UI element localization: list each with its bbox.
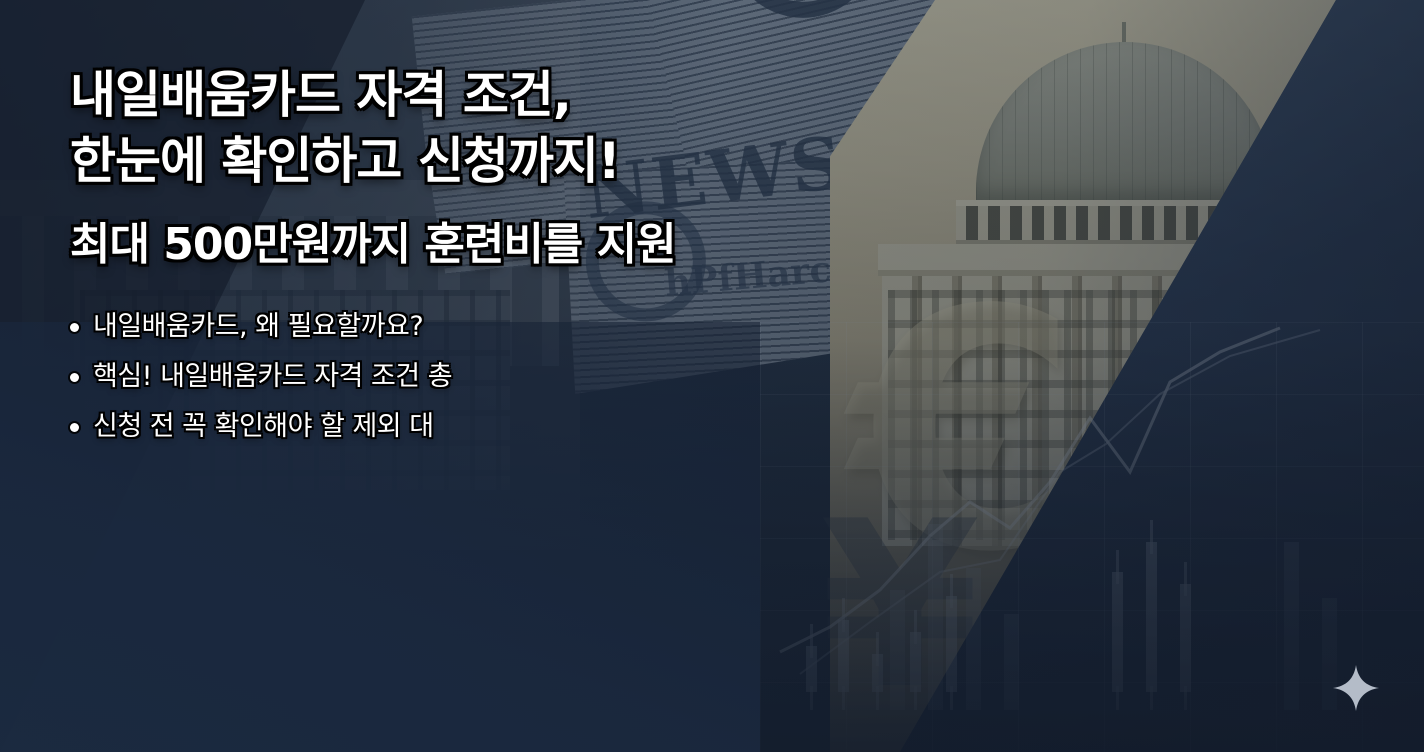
bullet-dot-icon xyxy=(70,323,79,332)
sparkle-icon xyxy=(1332,664,1380,712)
bullet-label: 신청 전 꼭 확인해야 할 제외 대 xyxy=(93,410,434,444)
bullet-dot-icon xyxy=(70,423,79,432)
bullet-dot-icon xyxy=(70,373,79,382)
headline-line-2: 한눈에 확인하고 신청까지! xyxy=(70,128,970,194)
promo-banner: NEWS hPfHarc € ¥ 18 303.4 0.12 3 447 2 8… xyxy=(0,0,1424,752)
list-item: 핵심! 내일배움카드 자격 조건 총 xyxy=(70,360,970,394)
list-item: 신청 전 꼭 확인해야 할 제외 대 xyxy=(70,410,970,444)
bullet-label: 핵심! 내일배움카드 자격 조건 총 xyxy=(93,360,452,394)
bullet-list: 내일배움카드, 왜 필요할까요? 핵심! 내일배움카드 자격 조건 총 신청 전… xyxy=(70,310,970,444)
list-item: 내일배움카드, 왜 필요할까요? xyxy=(70,310,970,344)
bullet-label: 내일배움카드, 왜 필요할까요? xyxy=(93,310,423,344)
headline-line-1: 내일배움카드 자격 조건, xyxy=(70,62,970,128)
subheadline: 최대 500만원까지 훈련비를 지원 xyxy=(70,216,970,274)
banner-content: 내일배움카드 자격 조건, 한눈에 확인하고 신청까지! 최대 500만원까지 … xyxy=(70,62,970,460)
